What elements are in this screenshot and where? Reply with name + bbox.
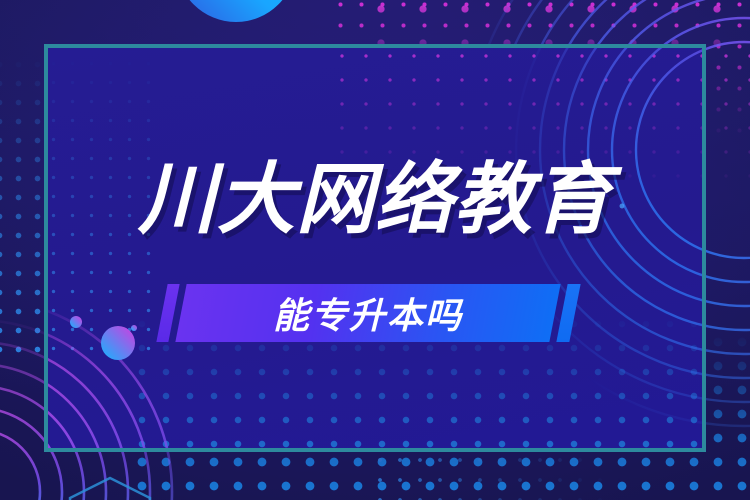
subtitle-text: 能专升本吗 (181, 284, 555, 342)
page-title: 川大网络教育 (0, 160, 750, 238)
banner-right-slash (556, 284, 580, 342)
subtitle-banner: 能专升本吗 (162, 282, 592, 344)
promo-banner: 川大网络教育 能专升本吗 (0, 0, 750, 500)
teal-frame-border (44, 44, 706, 452)
